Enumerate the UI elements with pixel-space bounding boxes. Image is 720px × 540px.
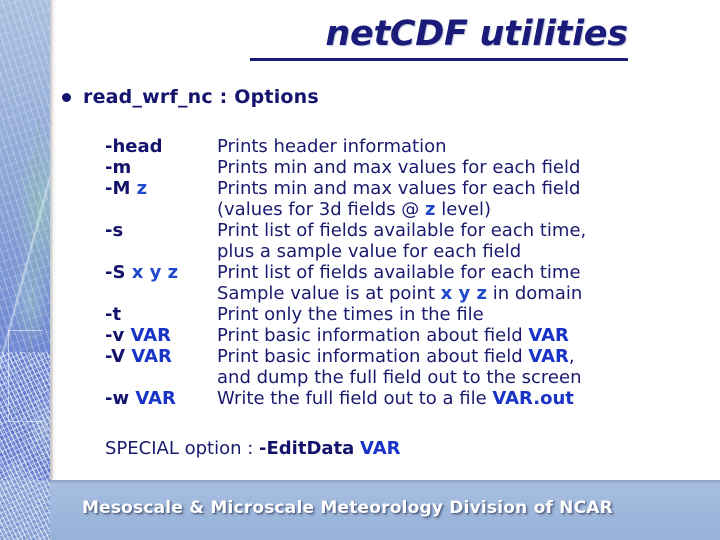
option-row: -s Print list of fields available for ea… bbox=[105, 220, 720, 241]
sidebar-drop-shadow bbox=[50, 0, 58, 480]
special-option-label: SPECIAL option : bbox=[105, 438, 259, 459]
option-argument: z bbox=[137, 178, 147, 199]
option-description: Print basic information about field VAR bbox=[217, 325, 720, 346]
option-description: Print only the times in the file bbox=[217, 304, 720, 325]
option-description: Prints min and max values for each field bbox=[217, 157, 720, 178]
option-description: Print list of fields available for each … bbox=[217, 220, 720, 241]
option-row: -t Print only the times in the file bbox=[105, 304, 720, 325]
title-area: netCDF utilities bbox=[250, 12, 680, 64]
option-description: Prints header information bbox=[217, 136, 720, 157]
option-row: -S x y z Print list of fields available … bbox=[105, 262, 720, 283]
footer-wind-barb-field bbox=[0, 480, 50, 540]
option-argument-inline: x y z bbox=[441, 283, 487, 304]
option-argument: x y z bbox=[132, 262, 178, 283]
option-description-continued: and dump the full field out to the scree… bbox=[217, 367, 720, 388]
option-row: -head Prints header information bbox=[105, 136, 720, 157]
option-row: -v VAR Print basic information about fie… bbox=[105, 325, 720, 346]
footer-organization-label: Mesoscale & Microscale Meteorology Divis… bbox=[82, 498, 613, 518]
option-flag: -t bbox=[105, 304, 217, 325]
option-flag: -S x y z bbox=[105, 262, 217, 283]
option-argument-inline: VAR bbox=[528, 325, 569, 346]
special-option-argument: VAR bbox=[360, 438, 401, 459]
option-flag: -head bbox=[105, 136, 217, 157]
filled-circle-bullet-icon bbox=[62, 93, 71, 102]
option-description: Print list of fields available for each … bbox=[217, 262, 720, 283]
option-flag: -m bbox=[105, 157, 217, 178]
special-option-flag: -EditData bbox=[259, 438, 354, 459]
option-flag: -V VAR bbox=[105, 346, 217, 367]
special-option-line: SPECIAL option : -EditData VAR bbox=[105, 438, 401, 459]
option-description-continued: (values for 3d fields @ z level) bbox=[217, 199, 720, 220]
footer-band: Mesoscale & Microscale Meteorology Divis… bbox=[0, 480, 720, 540]
option-argument: VAR bbox=[135, 388, 176, 409]
heading-bullet-row: read_wrf_nc : Options bbox=[62, 84, 712, 110]
option-row: -V VAR Print basic information about fie… bbox=[105, 346, 720, 367]
option-row: -M z Prints min and max values for each … bbox=[105, 178, 720, 199]
page-title: netCDF utilities bbox=[250, 12, 628, 61]
decorative-sidebar-panel bbox=[0, 0, 50, 540]
options-list: -head Prints header information -m Print… bbox=[105, 136, 720, 409]
content-area: read_wrf_nc : Options bbox=[62, 84, 712, 110]
option-argument-inline: VAR.out bbox=[492, 388, 573, 409]
option-description-continued: Sample value is at point x y z in domain bbox=[217, 283, 720, 304]
option-argument: VAR bbox=[131, 346, 172, 367]
option-description: Prints min and max values for each field bbox=[217, 178, 720, 199]
option-flag: -w VAR bbox=[105, 388, 217, 409]
footer-sidebar-panel bbox=[0, 480, 50, 540]
option-description: Write the full field out to a file VAR.o… bbox=[217, 388, 720, 409]
option-argument-inline: VAR bbox=[528, 346, 569, 367]
heading-label: read_wrf_nc : Options bbox=[83, 86, 319, 108]
option-flag: -s bbox=[105, 220, 217, 241]
option-row: -w VAR Write the full field out to a fil… bbox=[105, 388, 720, 409]
option-argument-inline: z bbox=[425, 199, 435, 220]
option-description: Print basic information about field VAR, bbox=[217, 346, 720, 367]
footer-top-shadow bbox=[0, 480, 720, 484]
option-flag: -M z bbox=[105, 178, 217, 199]
slide: netCDF utilities read_wrf_nc : Options -… bbox=[0, 0, 720, 540]
option-description-continued: plus a sample value for each field bbox=[217, 241, 720, 262]
option-flag: -v VAR bbox=[105, 325, 217, 346]
option-row: -m Prints min and max values for each fi… bbox=[105, 157, 720, 178]
option-argument: VAR bbox=[131, 325, 172, 346]
